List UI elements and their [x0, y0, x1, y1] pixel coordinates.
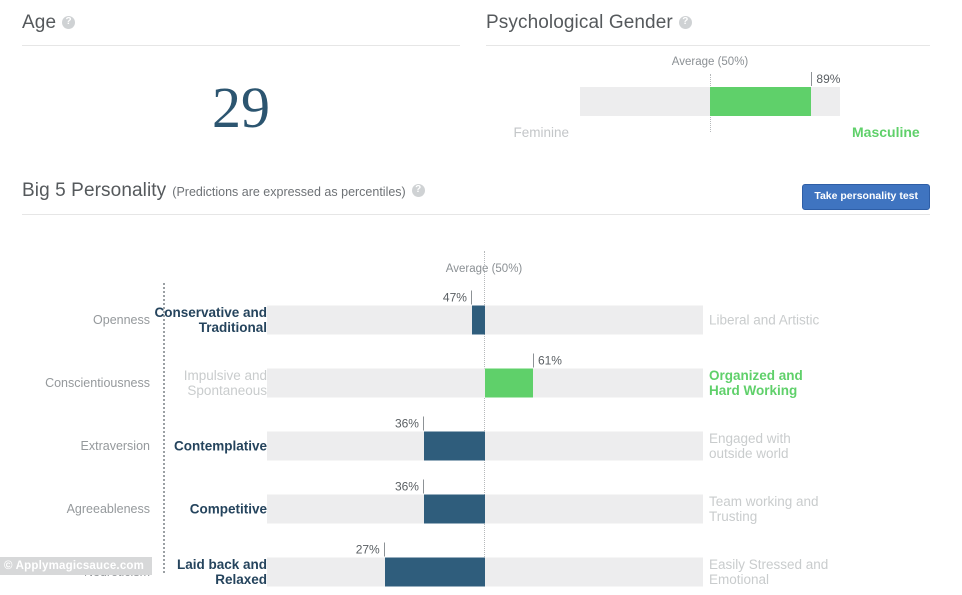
- age-title: Age: [22, 12, 56, 34]
- age-header: Age: [22, 12, 460, 34]
- trait-bar-fill: 61%: [485, 369, 533, 398]
- psychological-gender-panel: Psychological Gender Average (50%) Femin…: [486, 12, 930, 146]
- trait-bar-track: 36%: [267, 432, 703, 461]
- age-value: 29: [22, 79, 460, 137]
- gender-header: Psychological Gender: [486, 12, 930, 34]
- big5-row: ConscientiousnessImpulsive and Spontaneo…: [22, 360, 930, 406]
- big5-row: NeuroticismLaid back and RelaxedEasily S…: [22, 549, 930, 595]
- big5-chart: Average (50%) OpennessConservative and T…: [22, 221, 930, 573]
- help-circle-icon[interactable]: [679, 16, 692, 29]
- gender-value-label: 89%: [811, 72, 840, 86]
- help-circle-icon[interactable]: [62, 16, 75, 29]
- gender-pole-feminine: Feminine: [513, 118, 580, 147]
- watermark: © Applymagicsauce.com: [0, 557, 152, 575]
- trait-bar-track: 36%: [267, 495, 703, 524]
- trait-pole-right-label: Team working and Trusting: [709, 494, 934, 524]
- big5-row: AgreeablenessCompetitiveTeam working and…: [22, 486, 930, 532]
- trait-pole-right-label: Liberal and Artistic: [709, 313, 934, 328]
- trait-pole-left-label: Conservative and Traditional: [37, 305, 267, 335]
- take-personality-test-button[interactable]: Take personality test: [802, 184, 930, 210]
- big5-row: OpennessConservative and TraditionalLibe…: [22, 297, 930, 343]
- trait-bar-fill: 47%: [472, 306, 485, 335]
- trait-pole-left-label: Competitive: [37, 502, 267, 517]
- gender-bar-fill: 89%: [710, 87, 811, 116]
- trait-value-label: 27%: [356, 543, 385, 557]
- trait-pole-right-label: Easily Stressed and Emotional: [709, 557, 934, 587]
- age-divider: [22, 45, 460, 46]
- trait-bar-track: 61%: [267, 369, 703, 398]
- help-circle-icon[interactable]: [412, 184, 425, 197]
- trait-bar-fill: 36%: [424, 432, 485, 461]
- big5-personality-panel: Big 5 Personality (Predictions are expre…: [22, 180, 930, 573]
- trait-pole-left-label: Contemplative: [37, 439, 267, 454]
- trait-value-label: 36%: [395, 480, 424, 494]
- big5-divider: [22, 214, 930, 215]
- trait-bar-fill: 36%: [424, 495, 485, 524]
- big5-subtitle: (Predictions are expressed as percentile…: [172, 185, 405, 199]
- trait-value-label: 61%: [533, 354, 562, 368]
- gender-divider: [486, 45, 930, 46]
- trait-pole-left-label: Impulsive and Spontaneous: [37, 368, 267, 398]
- gender-average-caption: Average (50%): [672, 56, 749, 68]
- gender-chart: Average (50%) Feminine Masculine 89%: [486, 56, 930, 146]
- gender-title: Psychological Gender: [486, 12, 673, 34]
- trait-pole-right-label: Organized and Hard Working: [709, 368, 934, 398]
- big5-title: Big 5 Personality: [22, 180, 166, 202]
- gender-pole-masculine: Masculine: [840, 118, 920, 147]
- trait-bar-track: 27%: [267, 558, 703, 587]
- trait-bar-fill: 27%: [385, 558, 485, 587]
- big5-row: ExtraversionContemplativeEngaged with ou…: [22, 423, 930, 469]
- trait-value-label: 47%: [443, 291, 472, 305]
- trait-pole-right-label: Engaged with outside world: [709, 431, 934, 461]
- gender-bar-track: Feminine Masculine 89%: [580, 87, 840, 116]
- trait-bar-track: 47%: [267, 306, 703, 335]
- trait-value-label: 36%: [395, 417, 424, 431]
- big5-header: Big 5 Personality (Predictions are expre…: [22, 180, 930, 202]
- age-panel: Age 29: [22, 12, 460, 137]
